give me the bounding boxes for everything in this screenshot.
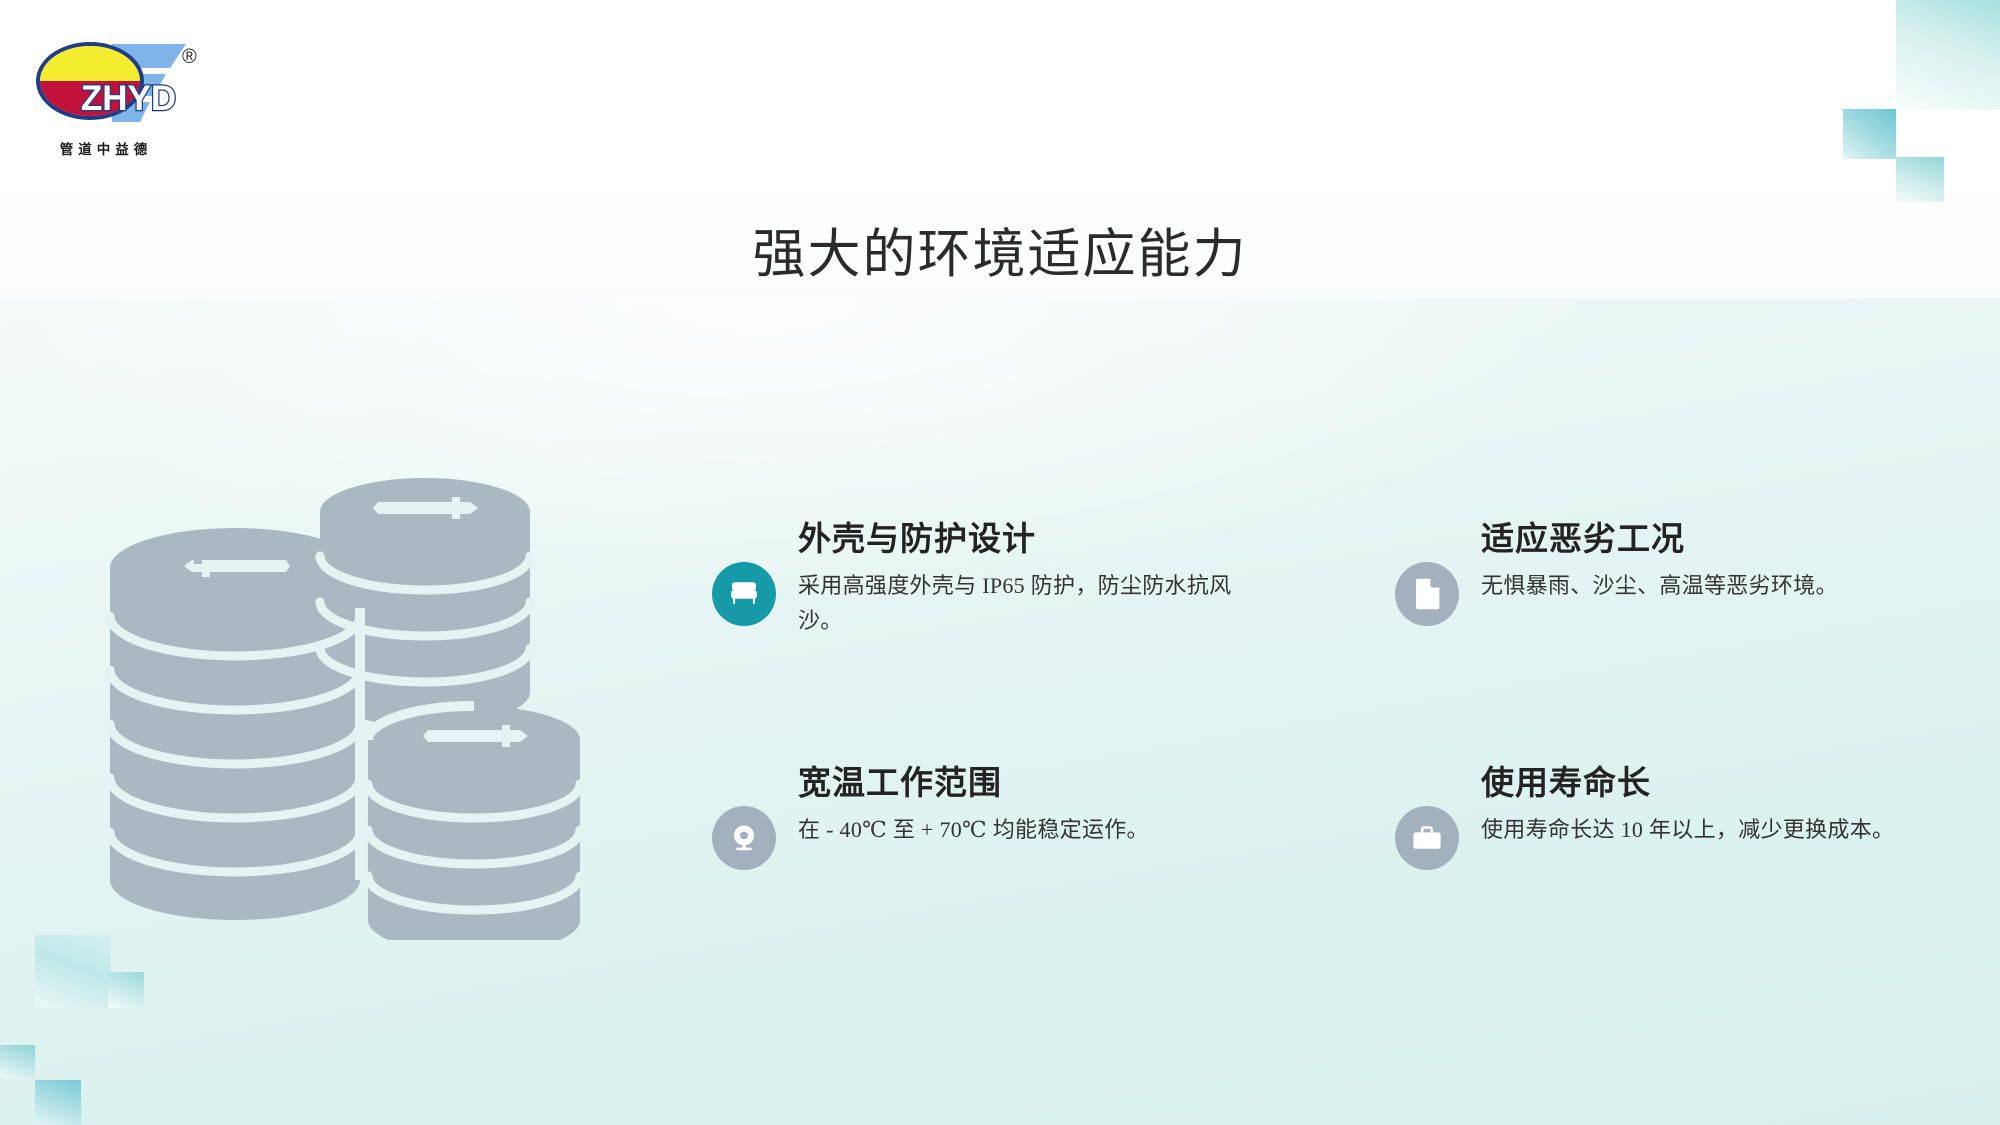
decor-square-top-right-2 [1843, 109, 1896, 159]
feature-icon-circle [1395, 562, 1459, 626]
feature-description: 采用高强度外壳与 IP65 防护，防尘防水抗风沙。 [798, 569, 1232, 639]
feature-row: 宽温工作范围 在 - 40℃ 至 + 70℃ 均能稳定运作。 使用寿命长 使用寿… [712, 764, 1952, 870]
feature-description: 在 - 40℃ 至 + 70℃ 均能稳定运作。 [798, 813, 1232, 848]
feature-icon-circle [712, 806, 776, 870]
registered-trademark-icon: ® [182, 46, 197, 69]
feature-text: 外壳与防护设计 采用高强度外壳与 IP65 防护，防尘防水抗风沙。 [798, 520, 1269, 639]
feature-description: 无惧暴雨、沙尘、高温等恶劣环境。 [1481, 569, 1915, 604]
logo-wordmark: ZHYD [36, 81, 221, 116]
stacked-coins-illustration [80, 440, 580, 940]
feature-text: 适应恶劣工况 无惧暴雨、沙尘、高温等恶劣环境。 [1481, 520, 1952, 604]
feature-icon-circle [1395, 806, 1459, 870]
sofa-icon [729, 581, 759, 607]
feature-title: 外壳与防护设计 [798, 520, 1269, 561]
feature-item-harsh-conditions: 适应恶劣工况 无惧暴雨、沙尘、高温等恶劣环境。 [1395, 520, 1952, 639]
feature-item-housing: 外壳与防护设计 采用高强度外壳与 IP65 防护，防尘防水抗风沙。 [712, 520, 1269, 639]
company-logo: ZHYD ® 管道中益德 [36, 34, 221, 164]
page-title: 强大的环境适应能力 [0, 226, 2000, 284]
feature-row: 外壳与防护设计 采用高强度外壳与 IP65 防护，防尘防水抗风沙。 适应恶劣工况… [712, 520, 1952, 639]
feature-item-temperature-range: 宽温工作范围 在 - 40℃ 至 + 70℃ 均能稳定运作。 [712, 764, 1269, 870]
document-icon [1413, 578, 1441, 610]
feature-text: 宽温工作范围 在 - 40℃ 至 + 70℃ 均能稳定运作。 [798, 764, 1269, 848]
decor-square-bottom-left-3 [35, 1080, 81, 1125]
feature-item-service-life: 使用寿命长 使用寿命长达 10 年以上，减少更换成本。 [1395, 764, 1952, 870]
feature-title: 适应恶劣工况 [1481, 520, 1952, 561]
webcam-icon [729, 823, 759, 853]
logo-half-top [40, 46, 140, 81]
decor-square-top-right-1 [1896, 0, 2000, 110]
briefcase-icon [1411, 824, 1443, 852]
slide-root: ZHYD ® 管道中益德 强大的环境适应能力 [0, 0, 2000, 1125]
decor-square-top-right-3 [1896, 157, 1944, 202]
feature-title: 宽温工作范围 [798, 764, 1269, 805]
feature-grid: 外壳与防护设计 采用高强度外壳与 IP65 防护，防尘防水抗风沙。 适应恶劣工况… [712, 520, 1952, 870]
decor-square-bottom-left-2 [0, 1045, 35, 1078]
feature-description: 使用寿命长达 10 年以上，减少更换成本。 [1481, 813, 1915, 848]
feature-title: 使用寿命长 [1481, 764, 1952, 805]
feature-text: 使用寿命长 使用寿命长达 10 年以上，减少更换成本。 [1481, 764, 1952, 848]
decor-square-bottom-left-4 [108, 972, 144, 1008]
decor-square-bottom-left-1 [35, 935, 111, 1008]
logo-tagline: 管道中益德 [41, 138, 171, 158]
feature-icon-circle [712, 562, 776, 626]
